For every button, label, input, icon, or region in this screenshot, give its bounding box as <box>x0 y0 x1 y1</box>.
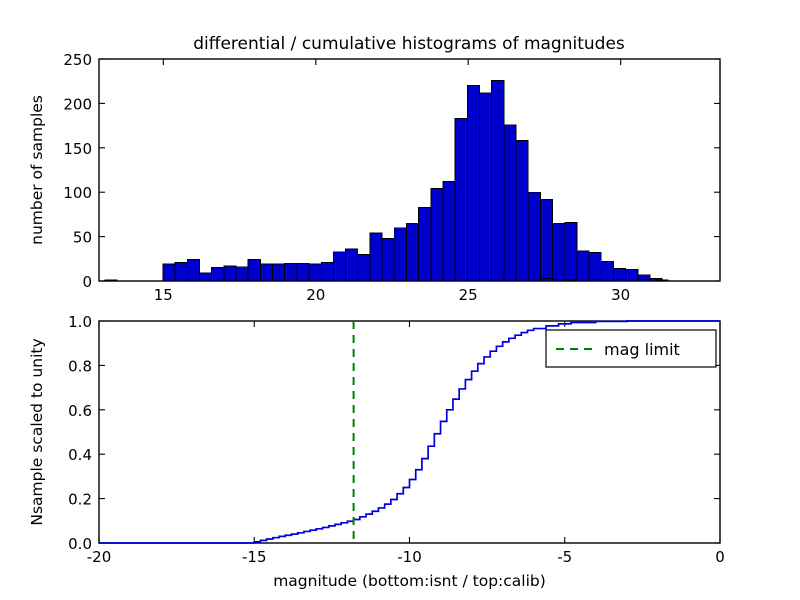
histogram-bar <box>394 228 406 281</box>
histogram-bars <box>105 80 668 281</box>
top-panel-ylabel: number of samples <box>28 95 46 245</box>
histogram-bar <box>406 223 418 281</box>
bottom-panel-ylabel: Nsample scaled to unity <box>28 338 46 525</box>
histogram-bar <box>528 192 540 281</box>
histogram-bar <box>382 238 394 281</box>
histogram-bar <box>224 266 236 281</box>
histogram-bar <box>285 263 297 281</box>
histogram-bar <box>516 141 528 281</box>
histogram-bar <box>236 267 248 281</box>
bottom-xtick-label-neg15: -15 <box>242 548 267 566</box>
top-xtick-label-15: 15 <box>154 286 173 304</box>
histogram-bar <box>443 182 455 281</box>
top-panel: 0 50 100 150 200 250 15 20 25 30 numb <box>28 51 720 304</box>
histogram-bar <box>504 125 516 281</box>
bottom-xtick-label-neg20: -20 <box>87 548 112 566</box>
histogram-bar <box>358 254 370 281</box>
histogram-bar <box>321 262 333 281</box>
bottom-panel-xlabel: magnitude (bottom:isnt / top:calib) <box>273 572 546 590</box>
histogram-bar <box>553 223 565 281</box>
histogram-bar <box>656 280 668 281</box>
histogram-bar <box>601 261 613 281</box>
histogram-bar <box>346 249 358 281</box>
legend[interactable]: mag limit <box>546 330 716 367</box>
histogram-bar <box>199 273 211 281</box>
bottom-ytick-label-1.0: 1.0 <box>68 313 92 331</box>
histogram-bar <box>260 264 272 281</box>
histogram-bar <box>105 280 117 281</box>
top-xtick-label-20: 20 <box>306 286 325 304</box>
bottom-ytick-label-0.2: 0.2 <box>68 491 92 509</box>
bottom-ytick-label-0.8: 0.8 <box>68 357 92 375</box>
histogram-bar <box>187 260 199 281</box>
histogram-bar <box>638 279 650 281</box>
histogram-bar <box>553 279 565 281</box>
histogram-bar <box>492 80 504 281</box>
legend-label-mag-limit: mag limit <box>604 340 680 359</box>
histogram-bar <box>419 207 431 281</box>
bottom-xtick-label-neg5: -5 <box>557 548 572 566</box>
histogram-bar <box>370 233 382 281</box>
histogram-bar <box>613 279 625 281</box>
top-ytick-label-200: 200 <box>63 95 92 113</box>
bottom-ytick-label-0.4: 0.4 <box>68 446 92 464</box>
top-ytick-label-0: 0 <box>82 273 92 291</box>
top-ytick-label-100: 100 <box>63 184 92 202</box>
figure-title: differential / cumulative histograms of … <box>193 34 625 54</box>
histogram-bar <box>333 252 345 281</box>
histogram-bar <box>163 264 175 281</box>
bottom-xtick-label-neg10: -10 <box>397 548 422 566</box>
top-xtick-label-25: 25 <box>459 286 478 304</box>
histogram-bar <box>273 264 285 281</box>
top-xtick-label-30: 30 <box>611 286 630 304</box>
matplotlib-figure: differential / cumulative histograms of … <box>0 0 800 600</box>
histogram-bar <box>297 263 309 281</box>
histogram-bar <box>248 260 260 281</box>
histogram-bar <box>565 222 577 281</box>
bottom-xtick-label-0: 0 <box>715 548 725 566</box>
histogram-bar <box>540 278 552 281</box>
histogram-bar <box>467 86 479 281</box>
histogram-bar <box>309 264 321 281</box>
histogram-bar <box>480 93 492 281</box>
bottom-ytick-label-0.6: 0.6 <box>68 402 92 420</box>
top-ytick-label-150: 150 <box>63 140 92 158</box>
bottom-panel: 0.0 0.2 0.4 0.6 0.8 1.0 -20 -15 -10 -5 <box>28 313 725 590</box>
histogram-bar <box>589 279 601 281</box>
histogram-bar <box>577 251 589 281</box>
top-ytick-label-250: 250 <box>63 51 92 69</box>
histogram-bar <box>540 199 552 281</box>
figure-canvas: differential / cumulative histograms of … <box>0 0 800 600</box>
histogram-bar <box>212 268 224 281</box>
histogram-bar <box>175 262 187 281</box>
histogram-bar <box>565 280 577 281</box>
histogram-bar <box>589 253 601 281</box>
histogram-bar <box>626 269 638 281</box>
histogram-bar <box>431 189 443 281</box>
histogram-bar <box>455 119 467 282</box>
top-ytick-label-50: 50 <box>73 229 92 247</box>
